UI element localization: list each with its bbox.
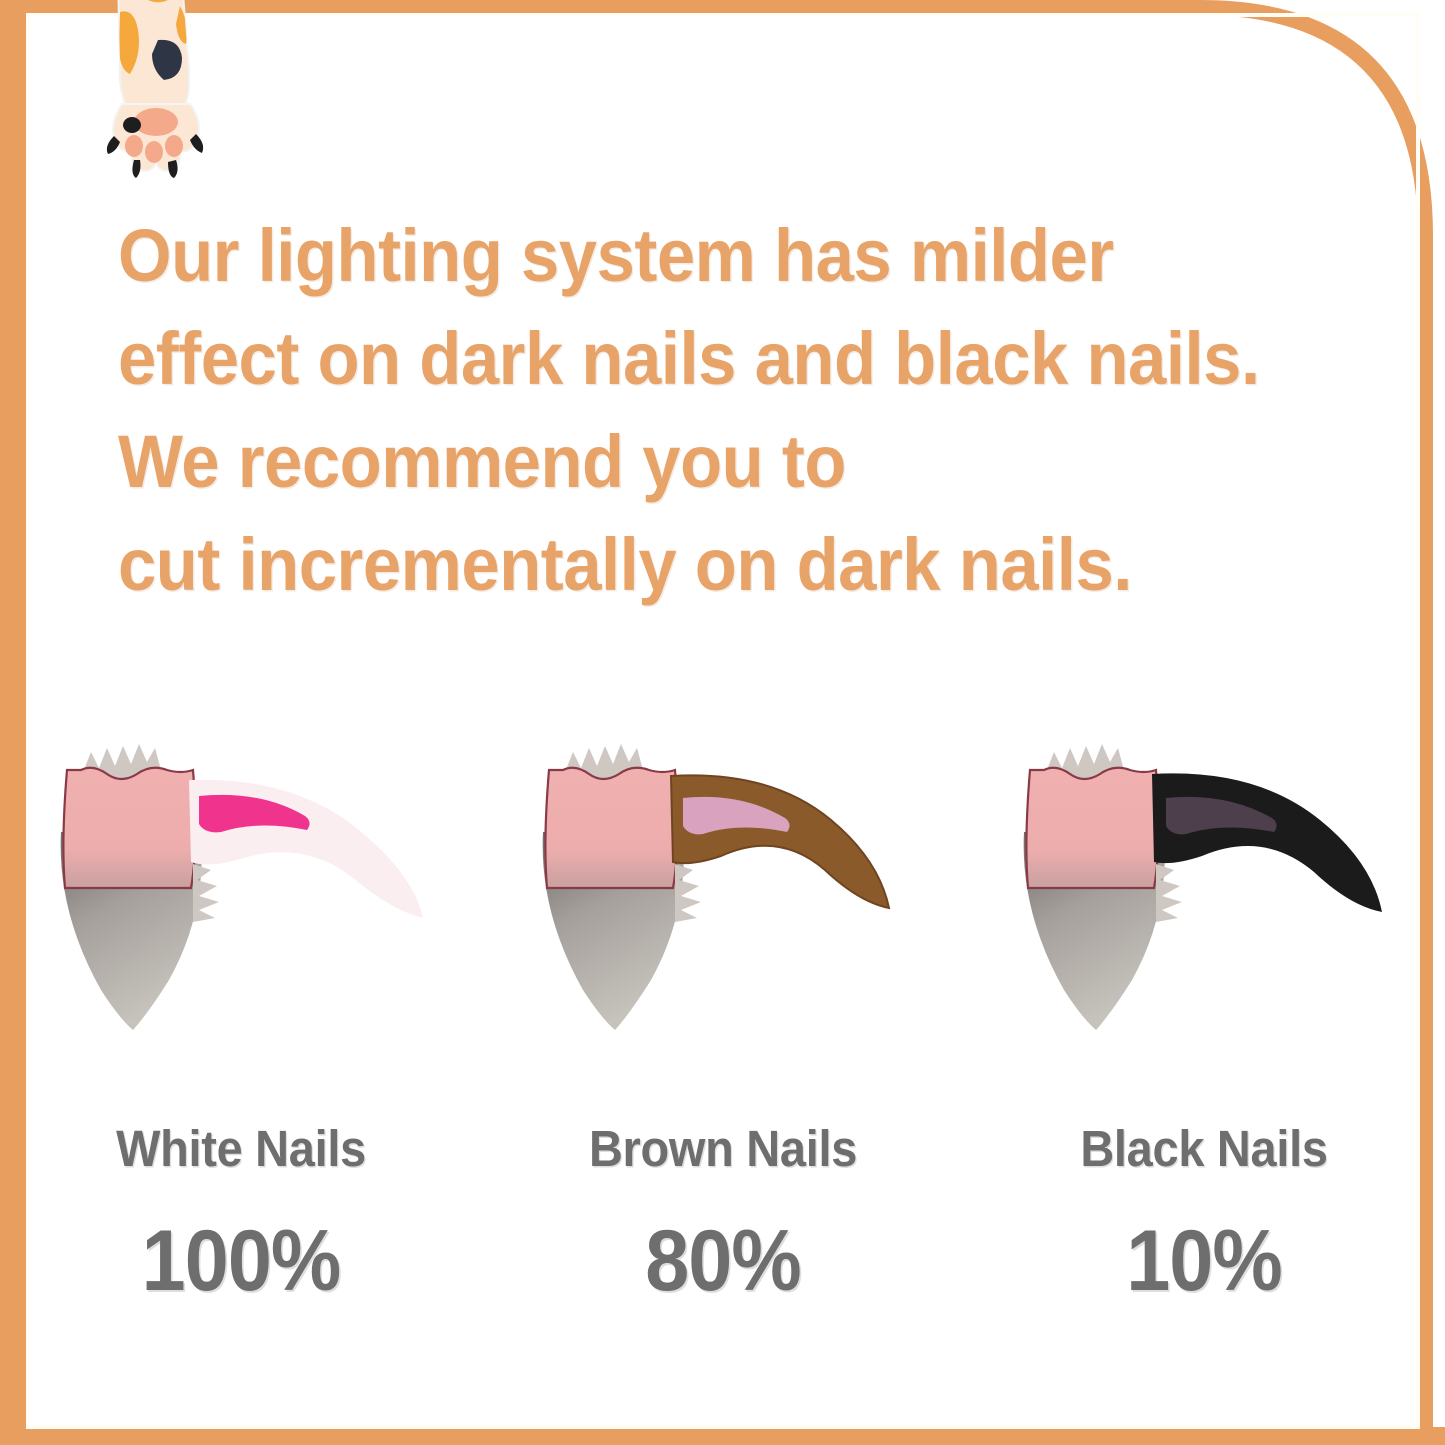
paw-toe-pad-2 [145, 141, 163, 163]
headline-line-2: effect on dark nails and black nails. [118, 307, 1271, 410]
headline-line-3: We recommend you to [118, 410, 1271, 513]
nail-illustration-row [0, 712, 1445, 1092]
nail-illustration-black [1004, 712, 1404, 1052]
nail-label-black: Black Nails [1052, 1120, 1356, 1178]
headline-line-1: Our lighting system has milder [118, 204, 1271, 307]
fur-tuft-bottom-brown [675, 864, 701, 922]
paw-claw-3 [168, 160, 178, 178]
infographic-canvas: Our lighting system has milder effect on… [0, 0, 1445, 1445]
nail-label-white: White Nails [89, 1120, 393, 1178]
paw-toe-pad-1 [125, 135, 143, 157]
frame-bottom-band [0, 1427, 1445, 1445]
toe-skin-black [1027, 768, 1159, 888]
headline-block: Our lighting system has milder effect on… [118, 204, 1358, 616]
claw-black [1152, 773, 1382, 912]
nail-percent-white: 100% [89, 1212, 393, 1310]
paw-pad-main [134, 108, 178, 136]
fur-tuft-bottom-black [1156, 864, 1182, 922]
nail-illustration-white [41, 712, 441, 1052]
cat-paw-icon [96, 0, 216, 180]
nail-column-white [0, 712, 482, 1092]
toe-skin-white [63, 768, 195, 888]
paw-claw-2 [132, 160, 140, 178]
nail-column-black [963, 712, 1445, 1092]
paw-spot-dark [123, 117, 141, 133]
fur-tuft-bottom-white [193, 864, 219, 922]
paw-toe-pad-3 [165, 135, 183, 157]
nail-column-brown [482, 712, 964, 1092]
nail-percent-brown: 80% [571, 1212, 875, 1310]
claw-brown [671, 775, 889, 908]
nail-label-brown: Brown Nails [571, 1120, 875, 1178]
headline-line-4: cut incrementally on dark nails. [118, 513, 1271, 616]
nail-illustration-brown [523, 712, 923, 1052]
nail-percent-black: 10% [1052, 1212, 1356, 1310]
toe-skin-brown [545, 768, 677, 888]
